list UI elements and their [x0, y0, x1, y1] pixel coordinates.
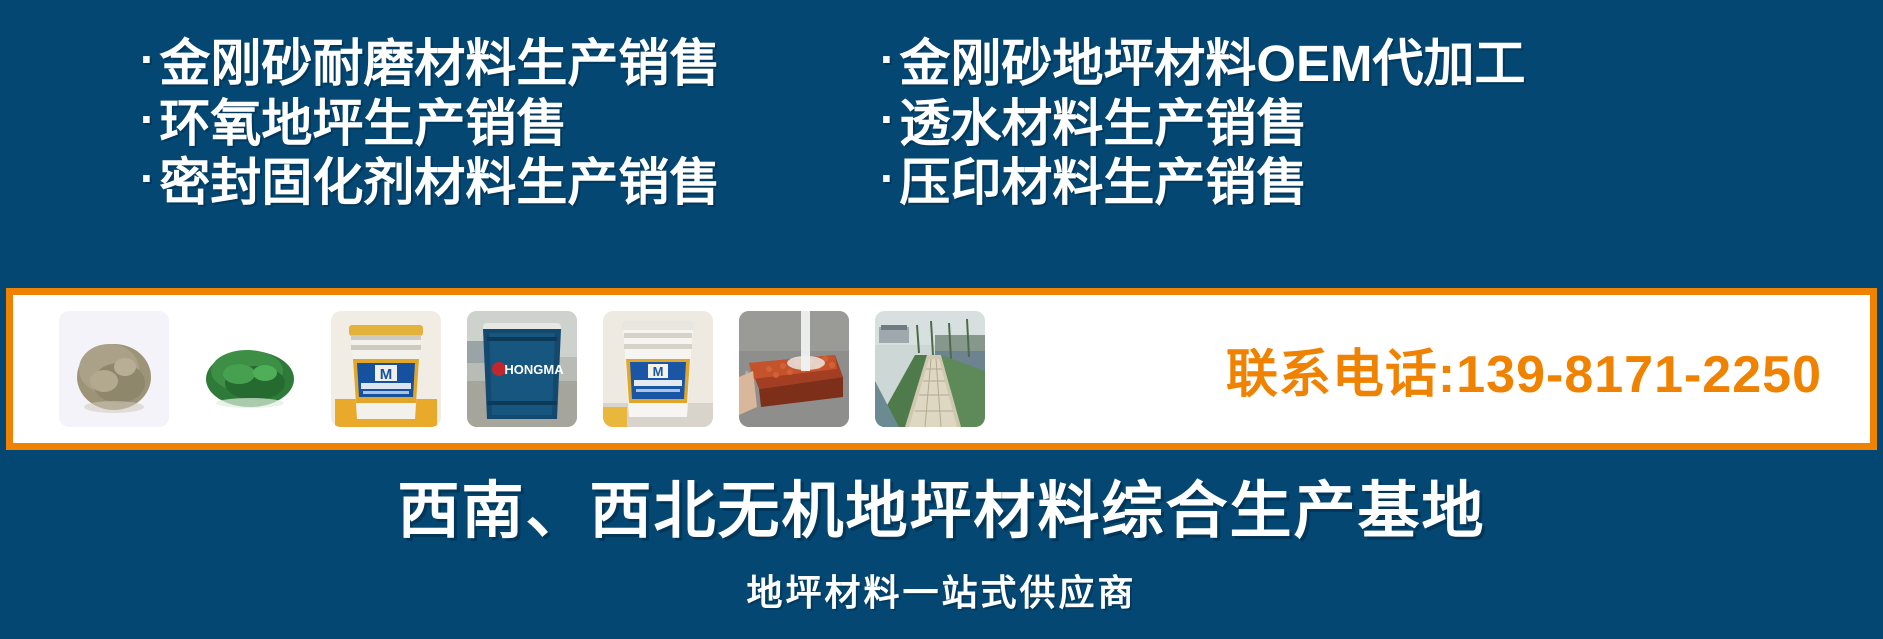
contact-phone-number[interactable]: 联系电话:139-8171-2250 [1226, 332, 1822, 407]
service-item-abrasive-sales: · 金刚砂耐磨材料生产销售 [140, 34, 860, 94]
promotional-banner: · 金刚砂耐磨材料生产销售 · 环氧地坪生产销售 · 密封固化剂材料生产销售 ·… [0, 0, 1883, 639]
main-headline: 西南、西北无机地坪材料综合生产基地 [397, 460, 1485, 550]
footer-headline-section: 西南、西北无机地坪材料综合生产基地 地坪材料一站式供应商 [0, 450, 1883, 639]
service-item-oem-processing: · 金刚砂地坪材料OEM代加工 [880, 34, 1883, 94]
grey-abrasive-powder-photo [59, 311, 169, 427]
bullet-icon: · [880, 155, 895, 201]
bullet-icon: · [140, 96, 155, 142]
service-label: 环氧地坪生产销售 [159, 94, 567, 154]
sub-headline: 地坪材料一站式供应商 [746, 564, 1136, 616]
service-item-epoxy-floor-sales: · 环氧地坪生产销售 [140, 94, 860, 154]
product-thumbnail-strip: M HONGMA [13, 311, 985, 427]
service-label: 密封固化剂材料生产销售 [159, 153, 720, 213]
bullet-icon: · [880, 96, 895, 142]
service-label: 压印材料生产销售 [899, 153, 1307, 213]
product-showcase-panel: M HONGMA [6, 288, 1877, 450]
service-label: 金刚砂耐磨材料生产销售 [159, 34, 720, 94]
epoxy-coating-bucket-photo: M [603, 311, 713, 427]
red-permeable-pavement-photo [739, 311, 849, 427]
services-right-column: · 金刚砂地坪材料OEM代加工 · 透水材料生产销售 · 压印材料生产销售 [860, 0, 1883, 288]
bullet-icon: · [140, 155, 155, 201]
sealer-bucket-photo: M [331, 311, 441, 427]
hongma-drum-photo: HONGMA [467, 311, 577, 427]
service-item-stamped-material-sales: · 压印材料生产销售 [880, 153, 1883, 213]
services-left-column: · 金刚砂耐磨材料生产销售 · 环氧地坪生产销售 · 密封固化剂材料生产销售 [0, 0, 860, 288]
svg-text:HONGMA: HONGMA [504, 362, 564, 377]
green-abrasive-powder-photo [195, 311, 305, 427]
contact-phone-block: 联系电话:139-8171-2250 [1226, 332, 1870, 407]
service-label: 透水材料生产销售 [899, 94, 1307, 154]
svg-text:M: M [380, 366, 393, 383]
service-label: 金刚砂地坪材料OEM代加工 [899, 34, 1525, 94]
service-item-sealer-sales: · 密封固化剂材料生产销售 [140, 153, 860, 213]
services-section: · 金刚砂耐磨材料生产销售 · 环氧地坪生产销售 · 密封固化剂材料生产销售 ·… [0, 0, 1883, 288]
service-item-permeable-material-sales: · 透水材料生产销售 [880, 94, 1883, 154]
bullet-icon: · [140, 36, 155, 82]
stamped-concrete-path-photo [875, 311, 985, 427]
svg-text:M: M [653, 364, 664, 379]
bullet-icon: · [880, 36, 895, 82]
